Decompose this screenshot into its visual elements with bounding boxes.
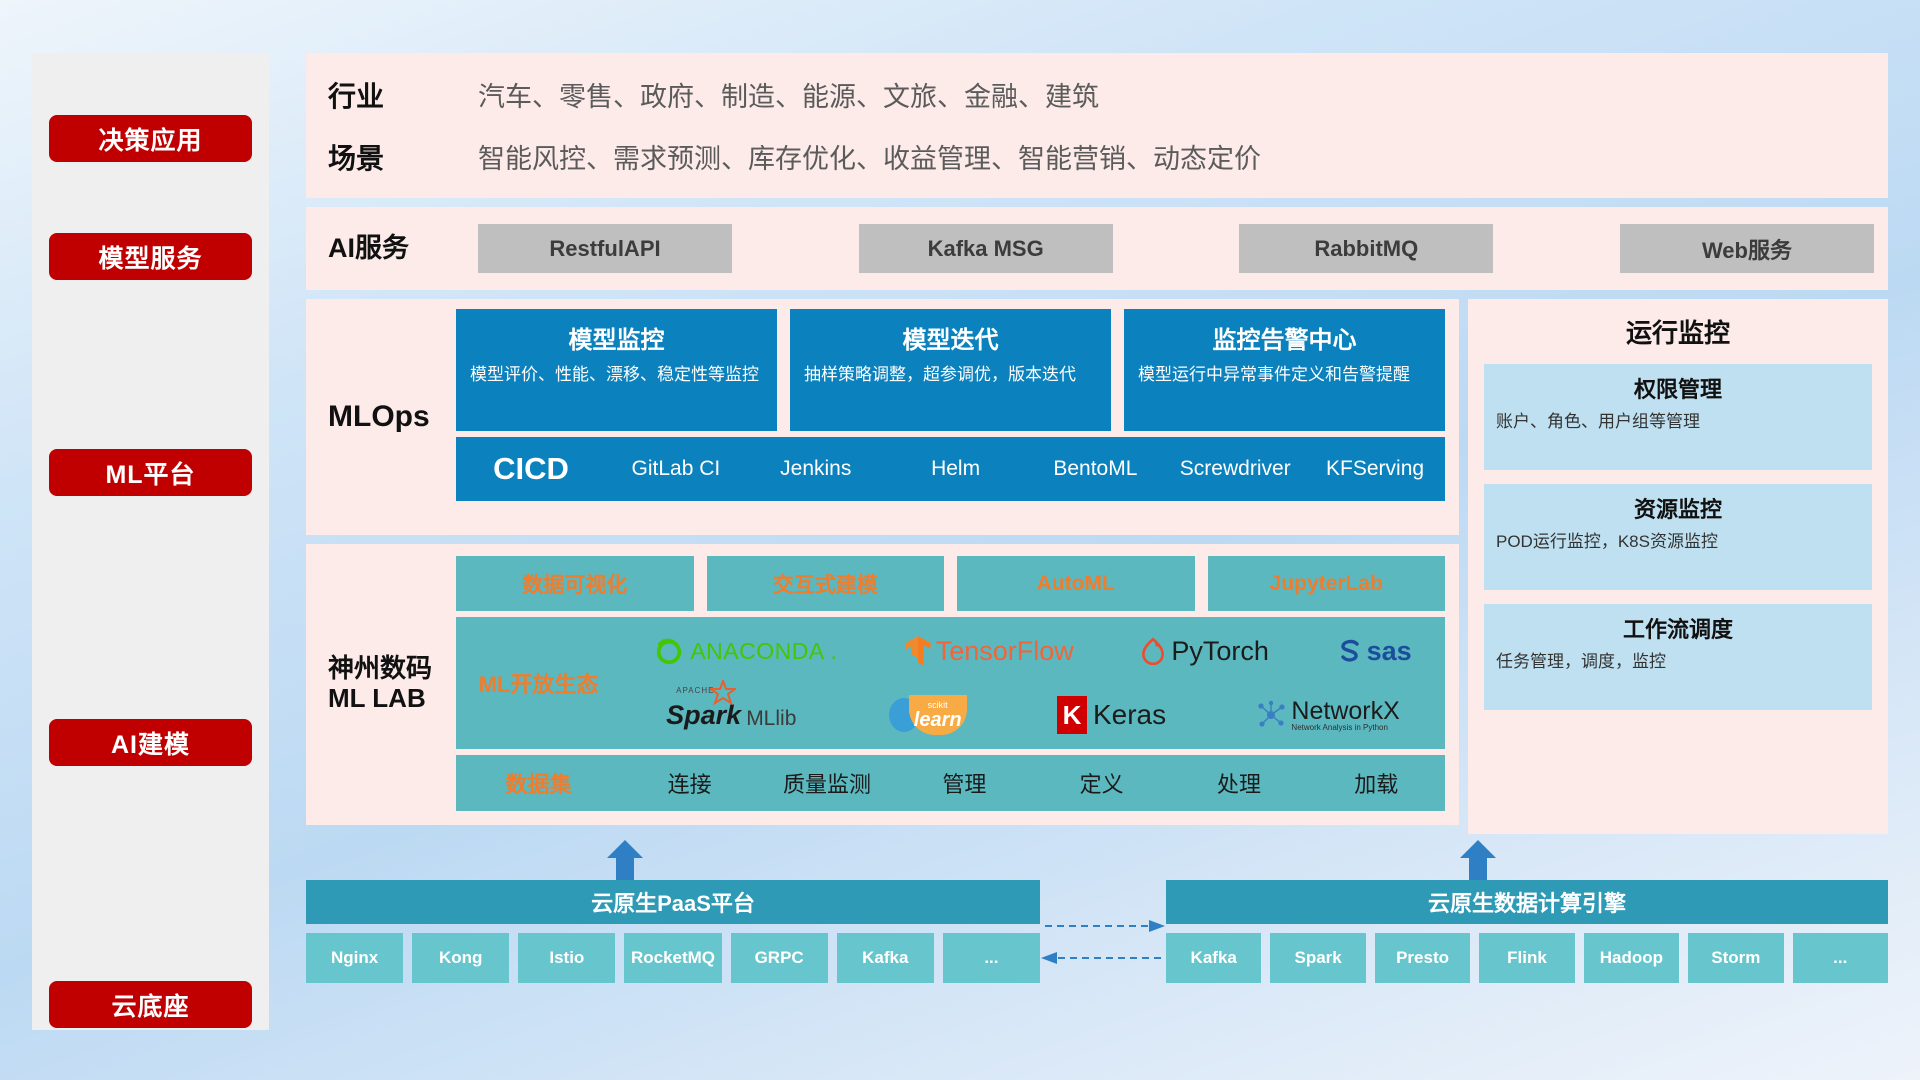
modeling-tool-row: 数据可视化 交互式建模 AutoML JupyterLab (456, 556, 1445, 611)
service-chip-rabbitmq[interactable]: RabbitMQ (1239, 224, 1493, 273)
paas-tag-grpc[interactable]: GRPC (731, 933, 828, 983)
dataset-item-process[interactable]: 处理 (1170, 767, 1307, 799)
monitoring-card-desc: 任务管理，调度，监控 (1496, 651, 1860, 674)
networkx-graph-icon (1256, 700, 1286, 730)
cicd-item-screwdriver[interactable]: Screwdriver (1165, 457, 1305, 481)
ml-ecosystem-logos: ANACONDA . Tens (621, 620, 1445, 746)
monitoring-card-title: 权限管理 (1496, 372, 1860, 404)
mlops-card-desc: 抽样策略调整，超参调优，版本迭代 (804, 364, 1097, 387)
tool-chip-automl[interactable]: AutoML (957, 556, 1195, 611)
left-rail: 决策应用 模型服务 ML平台 AI建模 云底座 (32, 53, 269, 1030)
cloud-base-section: 云原生PaaS平台 Nginx Kong Istio RocketMQ GRPC… (306, 840, 1888, 1015)
mlops-card-alert-center[interactable]: 监控告警中心 模型运行中异常事件定义和告警提醒 (1124, 309, 1445, 431)
industry-label: 行业 (328, 75, 478, 115)
ai-modeling-body: 数据可视化 交互式建模 AutoML JupyterLab ML开放生态 (456, 556, 1445, 811)
cicd-item-helm[interactable]: Helm (886, 457, 1026, 481)
ml-lab-label: 神州数码 ML LAB (328, 556, 456, 811)
service-chip-restfulapi[interactable]: RestfulAPI (478, 224, 732, 273)
monitoring-card-desc: 账户、角色、用户组等管理 (1496, 411, 1860, 434)
dataset-items: 连接 质量监测 管理 定义 处理 加载 (621, 767, 1445, 799)
dataset-item-define[interactable]: 定义 (1033, 767, 1170, 799)
tensorflow-logo: TensorFlow (904, 635, 1074, 667)
ml-ecosystem-label: ML开放生态 (456, 667, 621, 699)
sas-wordmark: sas (1367, 636, 1412, 667)
rail-item-cloud-base[interactable]: 云底座 (49, 981, 252, 1028)
anaconda-icon (654, 636, 684, 666)
keras-wordmark: Keras (1093, 699, 1166, 731)
rail-item-label: 云底座 (111, 987, 189, 1023)
rail-item-label: ML平台 (105, 455, 195, 491)
tensorflow-wordmark: TensorFlow (936, 636, 1074, 667)
tool-chip-data-visualization[interactable]: 数据可视化 (456, 556, 694, 611)
paas-up-arrow-icon (605, 840, 645, 882)
dataset-item-load[interactable]: 加载 (1308, 767, 1445, 799)
mlops-card-desc: 模型运行中异常事件定义和告警提醒 (1138, 364, 1431, 387)
tool-chip-jupyterlab[interactable]: JupyterLab (1208, 556, 1446, 611)
scenario-value: 智能风控、需求预测、库存优化、收益管理、智能营销、动态定价 (478, 137, 1261, 176)
engine-tag-kafka[interactable]: Kafka (1166, 933, 1261, 983)
tensorflow-icon (904, 635, 932, 667)
dataset-row: 数据集 连接 质量监测 管理 定义 处理 加载 (456, 755, 1445, 811)
engine-tag-more[interactable]: ... (1793, 933, 1888, 983)
dataset-label: 数据集 (456, 767, 621, 799)
industry-value: 汽车、零售、政府、制造、能源、文旅、金融、建筑 (478, 75, 1099, 114)
paas-tag-istio[interactable]: Istio (518, 933, 615, 983)
scenario-row: 场景 智能风控、需求预测、库存优化、收益管理、智能营销、动态定价 (328, 137, 1261, 177)
pytorch-wordmark: PyTorch (1171, 636, 1269, 667)
networkx-logo: NetworkX Network Analysis in Python (1256, 699, 1399, 732)
industry-row: 行业 汽车、零售、政府、制造、能源、文旅、金融、建筑 (328, 75, 1261, 115)
monitoring-card-resource[interactable]: 资源监控 POD运行监控，K8S资源监控 (1484, 484, 1872, 590)
ml-ecosystem-logo-row-2: APACHE Spark MLlib (621, 684, 1445, 746)
scenario-label: 场景 (328, 137, 478, 177)
ai-modeling-band: 神州数码 ML LAB 数据可视化 交互式建模 AutoML JupyterLa… (306, 544, 1459, 825)
ml-ecosystem-logo-row-1: ANACONDA . Tens (621, 620, 1445, 682)
bidirectional-dashed-arrows (1041, 914, 1165, 970)
paas-platform-tags: Nginx Kong Istio RocketMQ GRPC Kafka ... (306, 933, 1040, 983)
engine-tag-storm[interactable]: Storm (1688, 933, 1783, 983)
monitoring-card-title: 资源监控 (1496, 492, 1860, 524)
networkx-tagline: Network Analysis in Python (1291, 724, 1399, 732)
pytorch-logo: PyTorch (1140, 636, 1269, 667)
rail-item-label: 决策应用 (98, 121, 202, 157)
keras-mark-icon: K (1057, 696, 1087, 734)
scikit-orange-blob-icon: scikit learn (909, 695, 967, 735)
dataset-item-connect[interactable]: 连接 (621, 767, 758, 799)
dataset-item-quality-monitoring[interactable]: 质量监测 (758, 767, 895, 799)
data-engine-up-arrow-icon (1458, 840, 1498, 882)
paas-tag-kafka[interactable]: Kafka (837, 933, 934, 983)
cicd-item-kfserving[interactable]: KFServing (1305, 457, 1445, 481)
cicd-bar: CICD GitLab CI Jenkins Helm BentoML Scre… (456, 437, 1445, 501)
rail-item-label: AI建模 (111, 725, 190, 761)
sas-icon (1336, 637, 1364, 665)
monitoring-card-permission[interactable]: 权限管理 账户、角色、用户组等管理 (1484, 364, 1872, 470)
networkx-wordmark: NetworkX (1291, 699, 1399, 724)
paas-tag-kong[interactable]: Kong (412, 933, 509, 983)
mlops-cards: 模型监控 模型评价、性能、漂移、稳定性等监控 模型迭代 抽样策略调整，超参调优，… (456, 309, 1445, 431)
spark-mllib-logo: APACHE Spark MLlib (666, 700, 796, 731)
monitoring-card-workflow[interactable]: 工作流调度 任务管理，调度，监控 (1484, 604, 1872, 710)
mlops-card-title: 监控告警中心 (1138, 320, 1431, 355)
keras-logo: K Keras (1057, 696, 1166, 734)
spark-apache-label: APACHE (676, 686, 714, 695)
mlops-card-title: 模型迭代 (804, 320, 1097, 355)
middle-left-column: MLOps 模型监控 模型评价、性能、漂移、稳定性等监控 模型迭代 抽样策略调整… (306, 299, 1459, 834)
mlops-card-title: 模型监控 (470, 320, 763, 355)
anaconda-dot: . (831, 638, 837, 665)
data-compute-engine-tags: Kafka Spark Presto Flink Hadoop Storm ..… (1166, 933, 1888, 983)
cicd-item-jenkins[interactable]: Jenkins (746, 457, 886, 481)
rail-item-model-service[interactable]: 模型服务 (49, 233, 252, 280)
engine-tag-flink[interactable]: Flink (1479, 933, 1574, 983)
paas-tag-more[interactable]: ... (943, 933, 1040, 983)
mlops-card-model-iteration[interactable]: 模型迭代 抽样策略调整，超参调优，版本迭代 (790, 309, 1111, 431)
monitoring-title: 运行监控 (1484, 313, 1872, 350)
rail-item-label: 模型服务 (98, 239, 202, 275)
cicd-items: GitLab CI Jenkins Helm BentoML Screwdriv… (606, 457, 1445, 481)
scikit-learn-logo: scikit learn (887, 695, 967, 735)
mlops-card-model-monitoring[interactable]: 模型监控 模型评价、性能、漂移、稳定性等监控 (456, 309, 777, 431)
middle-section: MLOps 模型监控 模型评价、性能、漂移、稳定性等监控 模型迭代 抽样策略调整… (306, 299, 1888, 834)
mllib-wordmark: MLlib (746, 707, 796, 731)
paas-platform-title: 云原生PaaS平台 (306, 880, 1040, 924)
industry-scenario-list: 行业 汽车、零售、政府、制造、能源、文旅、金融、建筑 场景 智能风控、需求预测、… (328, 75, 1261, 177)
spark-star-icon (710, 680, 736, 706)
cicd-item-bentoml[interactable]: BentoML (1025, 457, 1165, 481)
industry-scenario-band: 行业 汽车、零售、政府、制造、能源、文旅、金融、建筑 场景 智能风控、需求预测、… (306, 53, 1888, 198)
anaconda-wordmark: ANACONDA (690, 638, 824, 665)
paas-tag-rocketmq[interactable]: RocketMQ (624, 933, 721, 983)
rail-item-ai-modeling[interactable]: AI建模 (49, 719, 252, 766)
ai-service-chips: RestfulAPI Kafka MSG RabbitMQ Web服务 (478, 224, 1888, 273)
sas-logo: sas (1336, 636, 1412, 667)
mlops-label: MLOps (328, 309, 456, 525)
ai-service-band: AI服务 RestfulAPI Kafka MSG RabbitMQ Web服务 (306, 207, 1888, 290)
tool-chip-interactive-modeling[interactable]: 交互式建模 (707, 556, 945, 611)
cicd-title: CICD (456, 451, 606, 487)
engine-tag-spark[interactable]: Spark (1270, 933, 1365, 983)
cicd-item-gitlab-ci[interactable]: GitLab CI (606, 457, 746, 481)
data-compute-engine-title: 云原生数据计算引擎 (1166, 880, 1888, 924)
engine-tag-hadoop[interactable]: Hadoop (1584, 933, 1679, 983)
service-chip-web-service[interactable]: Web服务 (1620, 224, 1874, 273)
paas-platform-block: 云原生PaaS平台 Nginx Kong Istio RocketMQ GRPC… (306, 880, 1040, 983)
mlops-body: 模型监控 模型评价、性能、漂移、稳定性等监控 模型迭代 抽样策略调整，超参调优，… (456, 309, 1445, 525)
mlops-card-desc: 模型评价、性能、漂移、稳定性等监控 (470, 364, 763, 387)
paas-tag-nginx[interactable]: Nginx (306, 933, 403, 983)
mlops-band: MLOps 模型监控 模型评价、性能、漂移、稳定性等监控 模型迭代 抽样策略调整… (306, 299, 1459, 535)
data-compute-engine-block: 云原生数据计算引擎 Kafka Spark Presto Flink Hadoo… (1166, 880, 1888, 983)
service-chip-kafka-msg[interactable]: Kafka MSG (859, 224, 1113, 273)
monitoring-column: 运行监控 权限管理 账户、角色、用户组等管理 资源监控 POD运行监控，K8S资… (1468, 299, 1888, 834)
rail-item-decision-app[interactable]: 决策应用 (49, 115, 252, 162)
rail-item-ml-platform[interactable]: ML平台 (49, 449, 252, 496)
monitoring-card-desc: POD运行监控，K8S资源监控 (1496, 531, 1860, 554)
engine-tag-presto[interactable]: Presto (1375, 933, 1470, 983)
pytorch-icon (1140, 636, 1166, 666)
ai-service-label: AI服务 (328, 233, 478, 263)
scikit-learn-label: learn (914, 710, 962, 730)
ml-ecosystem-panel: ML开放生态 ANACONDA (456, 617, 1445, 749)
monitoring-card-title: 工作流调度 (1496, 612, 1860, 644)
anaconda-logo: ANACONDA . (654, 636, 837, 666)
architecture-diagram: 决策应用 模型服务 ML平台 AI建模 云底座 行业 汽车、零售、政府、制造、能… (0, 0, 1920, 1080)
main-column: 行业 汽车、零售、政府、制造、能源、文旅、金融、建筑 场景 智能风控、需求预测、… (306, 53, 1888, 1015)
dataset-item-manage[interactable]: 管理 (896, 767, 1033, 799)
